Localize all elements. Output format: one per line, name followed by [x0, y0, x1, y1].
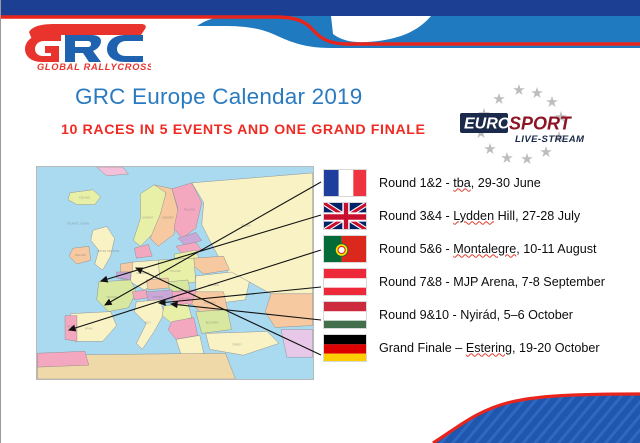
schedule-venue-2: Lydden: [453, 209, 494, 223]
flag-portugal: [323, 235, 367, 263]
flag-germany-graphic: [324, 335, 367, 362]
schedule-row-5[interactable]: Round 9&10 - Nyirád, 5–6 October: [323, 298, 640, 331]
schedule-suffix-2: Hill, 27-28 July: [494, 209, 580, 223]
grc-logo-tagline: GLOBAL RALLYCROSS: [37, 62, 151, 72]
svg-text:UNITED KINGDOM: UNITED KINGDOM: [97, 249, 119, 253]
footer-blue-shape: [433, 394, 640, 443]
flag-united-kingdom-graphic: [324, 203, 367, 230]
grc-logo-graphic: GLOBAL RALLYCROSS: [15, 22, 151, 72]
svg-text:ITALY: ITALY: [144, 321, 151, 325]
schedule-venue-1: tba: [453, 176, 471, 190]
slide-subtitle: 10 RACES IN 5 EVENTS AND ONE GRAND FINAL…: [61, 122, 426, 138]
schedule-prefix-1: Round 1&2 -: [379, 176, 453, 190]
schedule-prefix-4: Round 7&8 -: [379, 275, 453, 289]
svg-text:NORWAY: NORWAY: [142, 216, 153, 220]
svg-text:UKRAINE: UKRAINE: [208, 283, 220, 287]
flag-united-kingdom: [323, 202, 367, 230]
schedule-suffix-3: , 10-11 August: [516, 242, 596, 256]
europe-map-graphic: ICELAND NORWAY SWEDEN FINLAND RUSSIA UNI…: [37, 167, 313, 379]
eurosport-euro-text: EURO: [464, 116, 511, 133]
schedule-prefix-3: Round 5&6 -: [379, 242, 453, 256]
schedule-text-5: Round 9&10 - Nyirád, 5–6 October: [379, 308, 573, 322]
flag-austria: [323, 268, 367, 296]
map-country-netherlands: [121, 262, 133, 272]
race-schedule-list: Round 1&2 - tba, 29-30 June Round 3&4 - …: [323, 166, 640, 364]
schedule-suffix-5: , 5–6 October: [497, 308, 573, 322]
svg-text:FINLAND: FINLAND: [184, 208, 195, 212]
eurosport-sport-text: SPORT: [509, 114, 573, 134]
eurosport-logo-graphic: EURO SPORT LIVE-STREAM: [453, 80, 589, 166]
schedule-venue-3: Montalegre: [453, 242, 516, 256]
flag-germany: [323, 334, 367, 362]
header-dark-band: [1, 0, 640, 16]
svg-text:AUSTRIA: AUSTRIA: [152, 295, 163, 299]
svg-text:ATLANTIC OCEAN: ATLANTIC OCEAN: [67, 221, 89, 225]
schedule-suffix-6: , 19-20 October: [512, 341, 600, 355]
flag-austria-graphic: [324, 269, 367, 296]
flag-france: [323, 169, 367, 197]
svg-text:TURKEY: TURKEY: [231, 342, 242, 346]
svg-text:POLAND: POLAND: [170, 269, 181, 273]
svg-text:GERMANY: GERMANY: [136, 271, 149, 275]
svg-text:RUSSIA: RUSSIA: [241, 223, 251, 227]
grc-logo-letter-r: [65, 35, 101, 62]
schedule-row-6[interactable]: Grand Finale – Estering, 19-20 October: [323, 331, 640, 364]
schedule-prefix-2: Round 3&4 -: [379, 209, 453, 223]
map-country-caucasus: [265, 294, 313, 328]
page-title: GRC Europe Calendar 2019: [75, 84, 362, 110]
schedule-row-1[interactable]: Round 1&2 - tba, 29-30 June: [323, 166, 640, 199]
schedule-suffix-1: , 29-30 June: [471, 176, 541, 190]
schedule-venue-6: Estering: [466, 341, 512, 355]
flag-france-graphic: [324, 170, 367, 197]
schedule-venue-4: MJP Arena: [453, 275, 514, 289]
schedule-text-2: Round 3&4 - Lydden Hill, 27-28 July: [379, 209, 580, 223]
svg-text:PORT.: PORT.: [67, 324, 75, 328]
svg-text:BULGARIA: BULGARIA: [206, 321, 219, 325]
presentation-slide: GLOBAL RALLYCROSS GRC Europe Calendar 20…: [0, 0, 640, 443]
schedule-text-3: Round 5&6 - Montalegre, 10-11 August: [379, 242, 597, 256]
grc-logo: GLOBAL RALLYCROSS: [15, 22, 151, 72]
footer-decoration: [361, 382, 640, 443]
flag-portugal-graphic: [324, 236, 367, 263]
flag-hungary-graphic: [324, 302, 367, 329]
svg-text:SWEDEN: SWEDEN: [162, 216, 173, 220]
eurosport-logo: EURO SPORT LIVE-STREAM: [453, 80, 589, 166]
schedule-text-4: Round 7&8 - MJP Arena, 7-8 September: [379, 275, 605, 289]
svg-text:IRELAND: IRELAND: [75, 253, 86, 257]
svg-text:FRANCE: FRANCE: [107, 295, 118, 299]
grc-logo-letter-g: [25, 35, 61, 62]
schedule-text-1: Round 1&2 - tba, 29-30 June: [379, 176, 541, 190]
europe-map: ICELAND NORWAY SWEDEN FINLAND RUSSIA UNI…: [36, 166, 314, 380]
schedule-row-2[interactable]: Round 3&4 - Lydden Hill, 27-28 July: [323, 199, 640, 232]
schedule-suffix-4: , 7-8 September: [515, 275, 605, 289]
schedule-venue-5: Nyirád: [460, 308, 496, 322]
grc-tagline-global: GLOBAL RALLYCROSS: [37, 62, 151, 72]
svg-text:BELG.: BELG.: [121, 277, 129, 281]
flag-hungary: [323, 301, 367, 329]
svg-text:ICELAND: ICELAND: [79, 196, 90, 200]
svg-text:SPAIN: SPAIN: [85, 326, 93, 330]
map-country-czechia: [146, 278, 170, 290]
schedule-text-6: Grand Finale – Estering, 19-20 October: [379, 341, 600, 355]
schedule-prefix-6: Grand Finale –: [379, 341, 466, 355]
map-country-morocco: [37, 351, 89, 367]
svg-text:HUNGARY: HUNGARY: [178, 297, 191, 301]
map-country-switzerland: [132, 290, 148, 300]
eurosport-tagline: LIVE-STREAM: [515, 134, 585, 145]
schedule-prefix-5: Round 9&10 -: [379, 308, 460, 322]
grc-logo-letter-c: [107, 35, 143, 62]
schedule-row-4[interactable]: Round 7&8 - MJP Arena, 7-8 September: [323, 265, 640, 298]
schedule-row-3[interactable]: Round 5&6 - Montalegre, 10-11 August: [323, 232, 640, 265]
svg-text:ROMANIA: ROMANIA: [204, 301, 216, 305]
